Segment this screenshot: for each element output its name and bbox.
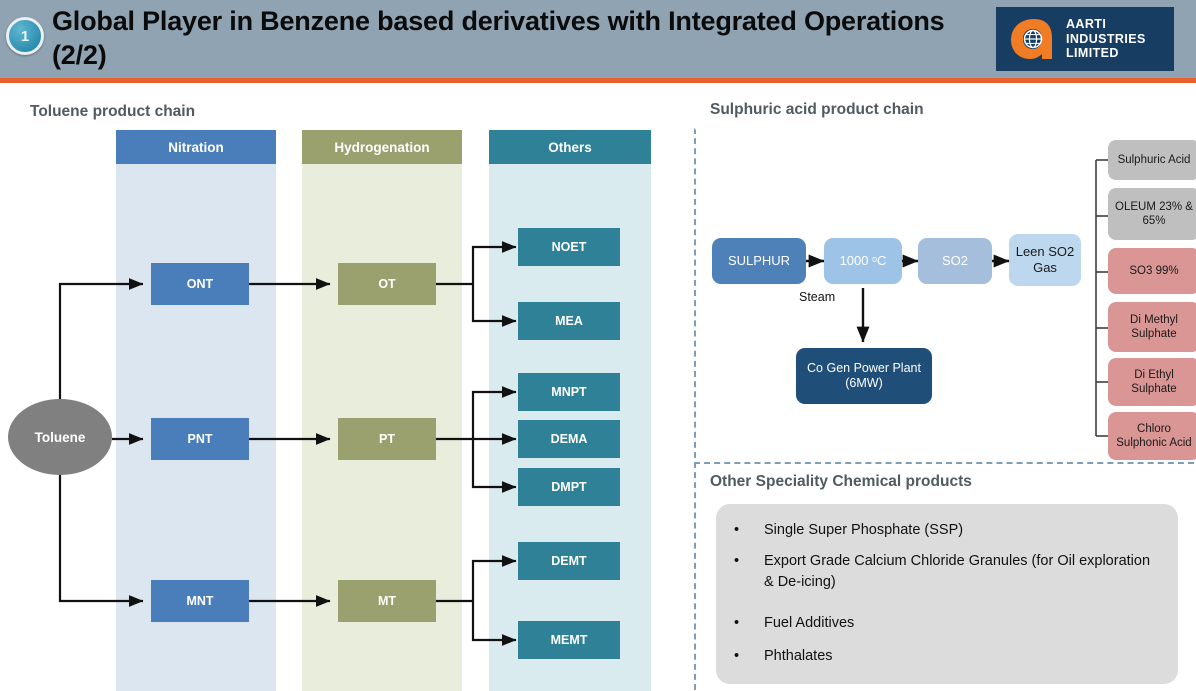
list-item: • Fuel Additives [716, 613, 1178, 634]
list-item-label: Single Super Phosphate (SSP) [764, 520, 963, 541]
list-item-label: Fuel Additives [764, 613, 854, 634]
node-so2[interactable]: SO2 [918, 238, 992, 284]
company-logo: AARTI INDUSTRIES LIMITED [996, 7, 1174, 71]
other-products-card: • Single Super Phosphate (SSP) • Export … [716, 504, 1178, 684]
product-sulphuric-acid[interactable]: Sulphuric Acid [1108, 140, 1196, 180]
logo-line-1: AARTI [1066, 17, 1146, 32]
node-label: PT [379, 432, 395, 446]
toluene-section-heading: Toluene product chain [30, 103, 195, 121]
list-item-label: Phthalates [764, 646, 833, 667]
product-label: Sulphuric Acid [1118, 153, 1191, 167]
node-mnpt[interactable]: MNPT [518, 373, 620, 411]
node-label: MNT [186, 594, 213, 608]
node-mt[interactable]: MT [338, 580, 436, 622]
sulphuric-section-heading: Sulphuric acid product chain [710, 101, 924, 119]
product-label: SO3 99% [1129, 264, 1178, 278]
column-header-hydrogenation: Hydrogenation [302, 130, 462, 164]
toluene-product-chain-diagram: Nitration Hydrogenation Others [0, 130, 690, 691]
node-label: ONT [187, 277, 213, 291]
header-accent-rule [0, 78, 1196, 83]
node-label: MNPT [551, 385, 586, 399]
node-label: DEMT [551, 554, 586, 568]
node-dema[interactable]: DEMA [518, 420, 620, 458]
node-toluene-source[interactable]: Toluene [8, 399, 112, 475]
logo-wordmark: AARTI INDUSTRIES LIMITED [1066, 17, 1146, 61]
node-label: DEMA [551, 432, 588, 446]
node-ont[interactable]: ONT [151, 263, 249, 305]
page-title: Global Player in Benzene based derivativ… [52, 4, 982, 73]
node-label: Co Gen Power Plant (6MW) [802, 361, 926, 391]
column-header-label: Others [548, 140, 592, 155]
product-chloro-sulphonic-acid[interactable]: Chloro Sulphonic Acid [1108, 412, 1196, 460]
node-pnt[interactable]: PNT [151, 418, 249, 460]
node-mnt[interactable]: MNT [151, 580, 249, 622]
aarti-logo-mark [1006, 15, 1060, 63]
column-header-others: Others [489, 130, 651, 164]
node-label: PNT [188, 432, 213, 446]
product-di-ethyl-sulphate[interactable]: Di Ethyl Sulphate [1108, 358, 1196, 406]
node-label: Leen SO2 Gas [1009, 244, 1081, 275]
node-label: MT [378, 594, 396, 608]
node-pt[interactable]: PT [338, 418, 436, 460]
node-ot[interactable]: OT [338, 263, 436, 305]
logo-line-3: LIMITED [1066, 46, 1146, 61]
product-di-methyl-sulphate[interactable]: Di Methyl Sulphate [1108, 302, 1196, 352]
node-noet[interactable]: NOET [518, 228, 620, 266]
node-leen-so2-gas[interactable]: Leen SO2 Gas [1009, 234, 1081, 286]
bullet-icon: • [716, 520, 764, 541]
slide-number-badge: 1 [6, 17, 44, 55]
node-label: NOET [552, 240, 587, 254]
bullet-icon: • [716, 551, 764, 593]
node-label: MEA [555, 314, 583, 328]
node-label: Toluene [35, 430, 86, 445]
node-label: OT [378, 277, 395, 291]
slide-root: 1 Global Player in Benzene based derivat… [0, 0, 1196, 691]
node-dmpt[interactable]: DMPT [518, 468, 620, 506]
node-label: MEMT [551, 633, 588, 647]
bullet-icon: • [716, 646, 764, 667]
node-label: SO2 [942, 253, 968, 269]
node-cogen-power-plant[interactable]: Co Gen Power Plant (6MW) [796, 348, 932, 404]
product-label: Di Methyl Sulphate [1112, 313, 1196, 341]
node-mea[interactable]: MEA [518, 302, 620, 340]
list-item-label: Export Grade Calcium Chloride Granules (… [764, 551, 1159, 593]
sulphuric-product-chain-diagram: SULPHUR 1000 ᵒC SO2 Leen SO2 Gas Steam C… [694, 128, 1194, 458]
globe-icon [1025, 31, 1042, 48]
logo-line-2: INDUSTRIES [1066, 32, 1146, 47]
product-oleum[interactable]: OLEUM 23% & 65% [1108, 188, 1196, 240]
column-header-label: Nitration [168, 140, 224, 155]
node-label: DMPT [551, 480, 586, 494]
steam-label: Steam [799, 290, 835, 304]
column-header-nitration: Nitration [116, 130, 276, 164]
list-item: • Export Grade Calcium Chloride Granules… [716, 551, 1166, 593]
product-label: Di Ethyl Sulphate [1112, 368, 1196, 396]
product-label: OLEUM 23% & 65% [1112, 200, 1196, 228]
list-item: • Phthalates [716, 646, 1178, 667]
node-label: SULPHUR [728, 253, 790, 269]
slide-number-text: 1 [21, 28, 29, 45]
bullet-icon: • [716, 613, 764, 634]
list-item: • Single Super Phosphate (SSP) [716, 520, 1178, 541]
node-demt[interactable]: DEMT [518, 542, 620, 580]
column-header-label: Hydrogenation [334, 140, 429, 155]
product-label: Chloro Sulphonic Acid [1112, 422, 1196, 450]
node-label: 1000 ᵒC [840, 253, 887, 269]
node-1000c[interactable]: 1000 ᵒC [824, 238, 902, 284]
product-so3[interactable]: SO3 99% [1108, 248, 1196, 294]
node-memt[interactable]: MEMT [518, 621, 620, 659]
node-sulphur[interactable]: SULPHUR [712, 238, 806, 284]
